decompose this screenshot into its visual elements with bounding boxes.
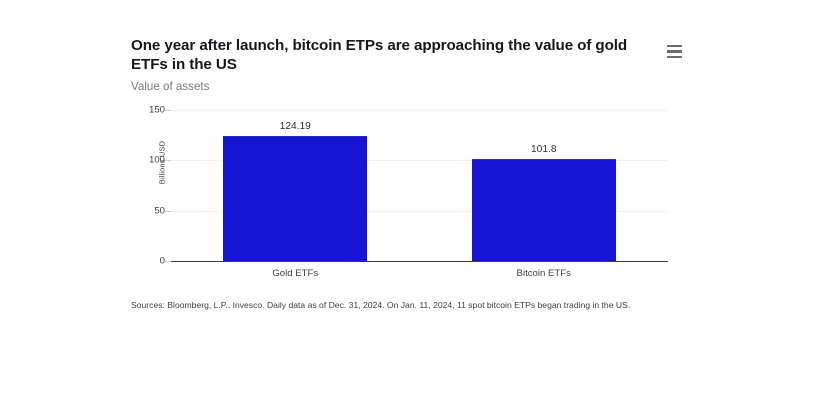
y-axis-tick-label: 50 [154, 205, 165, 216]
menu-line-2 [667, 50, 682, 52]
chart-bars: 124.19101.8 [171, 110, 668, 261]
chart-header: One year after launch, bitcoin ETPs are … [131, 36, 676, 94]
y-axis-tick-label: 150 [149, 105, 165, 116]
title-row: One year after launch, bitcoin ETPs are … [131, 36, 676, 74]
x-axis-line: 0 [171, 261, 668, 262]
y-axis-tick-mark [165, 261, 171, 262]
chart-subtitle: Value of assets [131, 80, 676, 94]
bar-slot: 101.8 [420, 110, 669, 261]
chart-page: One year after launch, bitcoin ETPs are … [0, 0, 825, 402]
bar-value-label: 101.8 [472, 144, 616, 155]
x-axis-category-label: Bitcoin ETFs [420, 268, 669, 279]
source-note: Sources: Bloomberg, L.P., Invesco. Daily… [131, 299, 731, 311]
menu-line-1 [667, 45, 682, 47]
bar-value-label: 124.19 [223, 121, 367, 132]
x-axis-category-label: Gold ETFs [171, 268, 420, 279]
x-axis-labels: Gold ETFsBitcoin ETFs [171, 268, 668, 279]
y-axis-tick-label: 100 [149, 155, 165, 166]
menu-line-3 [667, 56, 682, 58]
chart-plot-area: Billions USD 050100150 124.19101.8 Gold … [131, 110, 676, 285]
bar-slot: 124.19 [171, 110, 420, 261]
page-title: One year after launch, bitcoin ETPs are … [131, 36, 631, 74]
bar-bitcoin-etfs[interactable]: 101.8 [472, 159, 616, 261]
bar-gold-etfs[interactable]: 124.19 [223, 136, 367, 261]
hamburger-menu-icon[interactable] [667, 45, 682, 58]
